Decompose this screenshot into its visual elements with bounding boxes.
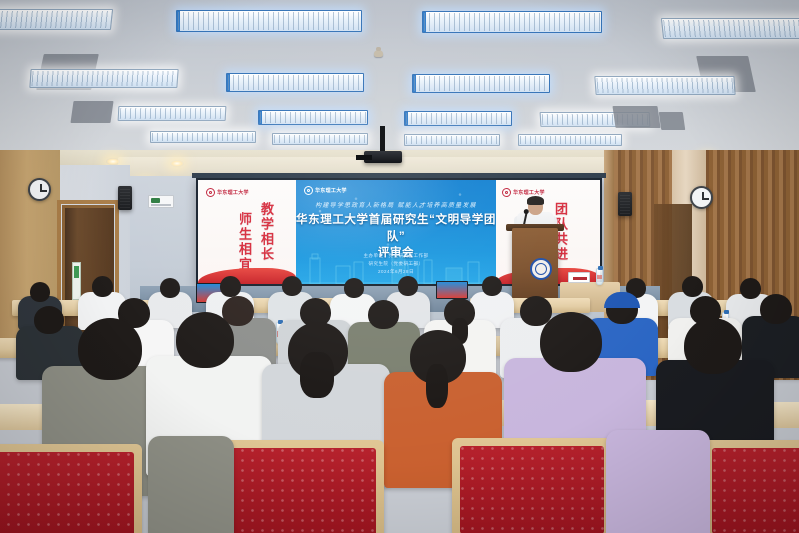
slide-title-line1: 华东理工大学首届研究生“文明导学团队” [296, 212, 496, 245]
slide-panel-center: 华东理工大学 构建导学思政育人新格局 赋能人才培养高质量发展 华东理工大学首届研… [296, 180, 496, 284]
ceiling-light [422, 11, 602, 33]
ceiling-light [29, 69, 178, 88]
projector-lens [356, 155, 372, 160]
ceiling-light [176, 10, 362, 32]
slide-foot-line1: 主办单位：党委研究生工作部 [296, 252, 496, 260]
exit-sign-glyph [151, 198, 160, 203]
downlight [106, 158, 120, 165]
university-logo-left: 华东理工大学 [206, 188, 249, 197]
slide-panel-left: 华东理工大学 教学相长 师生相宜 [198, 180, 296, 284]
speaker-hair [527, 196, 544, 205]
wall-clock-left [28, 178, 51, 201]
ceiling-light [412, 74, 550, 93]
ceiling-light [518, 134, 622, 146]
preview-monitor-screen [437, 282, 467, 298]
projector-mount-pole [380, 126, 385, 154]
bottle-label [597, 275, 602, 279]
slide-foot-line2: 研究生院（党委研工部） [296, 260, 496, 268]
ceiling-light [150, 131, 256, 143]
university-crest-icon [304, 186, 313, 195]
ceiling-light [0, 9, 113, 30]
ceiling-light [404, 134, 500, 146]
ceiling-light [661, 18, 799, 39]
water-bottle [596, 268, 603, 285]
ceiling-vent [70, 101, 113, 123]
bottle-cap [724, 310, 729, 314]
slide-subtitle: 构建导学思政育人新格局 赋能人才培养高质量发展 [296, 200, 496, 209]
preview-monitor [436, 281, 468, 299]
slide-foot-line3: 2024年6月28日 [296, 268, 496, 276]
exit-sign-text-line [151, 204, 171, 206]
conference-hall-photo: 华东理工大学 教学相长 师生相宜 华东理工大学 构建导学思政育人新格局 赋能人才… [0, 0, 799, 533]
name-card [568, 272, 590, 283]
ceiling-light [404, 111, 512, 126]
slide-left-line2: 师生相宜 [234, 212, 253, 272]
ceiling-light [272, 133, 368, 145]
ceiling-light [594, 76, 735, 95]
university-crest-icon [530, 258, 552, 280]
slide-left-ribbon [198, 268, 296, 284]
exit-sign-left [148, 195, 174, 208]
ceiling-light [118, 106, 227, 121]
wall-speaker-left [118, 186, 132, 210]
chair [222, 440, 384, 533]
chair [704, 440, 799, 533]
door-notice [72, 262, 81, 300]
university-crest-icon [206, 188, 215, 197]
university-crest-icon [502, 188, 511, 197]
wall-speaker-right [618, 192, 632, 216]
ceiling-light [258, 110, 368, 125]
university-logo-center: 华东理工大学 [304, 186, 347, 195]
ceiling-vent [612, 106, 660, 128]
ceiling-light [226, 73, 364, 92]
slide-footer-block: 主办单位：党委研究生工作部 研究生院（党委研工部） 2024年6月28日 [296, 252, 496, 276]
wall-clock-right [690, 186, 713, 209]
chair [452, 438, 612, 533]
chair [0, 444, 142, 533]
ceiling-vent [659, 112, 686, 130]
downlight [170, 160, 184, 167]
smoke-detector-icon [374, 50, 383, 57]
bottle-cap [598, 266, 603, 270]
slide-left-line1: 教学相长 [256, 202, 275, 262]
speaking-podium [512, 228, 558, 306]
